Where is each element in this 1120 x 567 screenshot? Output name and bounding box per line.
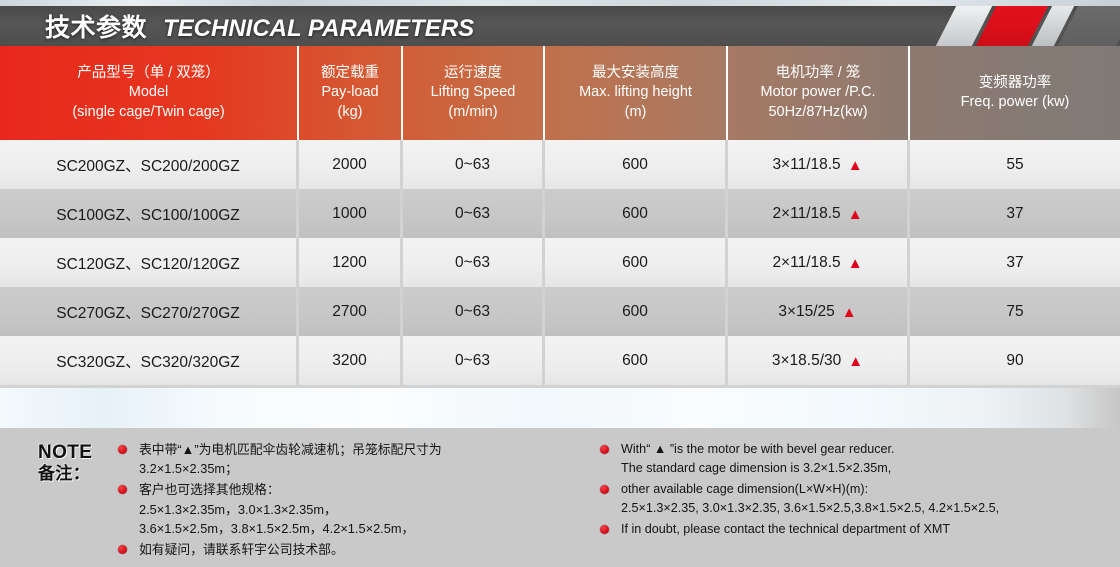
triangle-marker-icon: ▲	[848, 354, 863, 369]
column-header-speed-cn: 运行速度	[444, 64, 502, 83]
note-line: 3.2×1.5×2.35m；	[139, 459, 442, 478]
triangle-marker-icon: ▲	[848, 158, 863, 173]
cell-payload: 1000	[299, 189, 403, 238]
column-header-model-en: Model	[129, 83, 169, 102]
cell-model: SC120GZ、SC120/120GZ	[0, 238, 299, 287]
note-label: NOTE 备注：	[0, 428, 118, 567]
column-header-speed-en: Lifting Speed	[431, 83, 516, 102]
cell-model: SC200GZ、SC200/200GZ	[0, 140, 299, 189]
specifications-table: 产品型号（单 / 双笼） Model (single cage/Twin cag…	[0, 46, 1120, 385]
note-item: 如有疑问，请联系轩宇公司技术部。	[118, 540, 570, 559]
column-header-freq-power: 变频器功率 Freq. power (kw)	[910, 46, 1120, 140]
column-header-model-unit: (single cage/Twin cage)	[72, 103, 224, 122]
cell-height: 600	[545, 189, 728, 238]
page-title-en: TECHNICAL PARAMETERS	[163, 15, 474, 42]
cell-speed: 0~63	[403, 336, 545, 385]
column-header-height-en: Max. lifting height	[579, 83, 692, 102]
note-line: other available cage dimension(L×W×H)(m)…	[621, 480, 999, 499]
triangle-marker-icon: ▲	[848, 207, 863, 222]
cell-model: SC320GZ、SC320/320GZ	[0, 336, 299, 385]
note-column-english: With“ ▲ ”is the motor be with bevel gear…	[570, 428, 1120, 567]
note-panel: NOTE 备注： 表中带“▲”为电机匹配伞齿轮减速机；吊笼标配尺寸为 3.2×1…	[0, 428, 1120, 567]
cell-freq-power: 90	[910, 336, 1120, 385]
note-item-text: With“ ▲ ”is the motor be with bevel gear…	[621, 440, 895, 478]
cell-model: SC270GZ、SC270/270GZ	[0, 287, 299, 336]
column-header-payload-en: Pay-load	[321, 83, 378, 102]
column-header-speed-unit: (m/min)	[448, 103, 497, 122]
bullet-icon	[118, 545, 127, 554]
bullet-icon	[118, 485, 127, 494]
note-line: 表中带“▲”为电机匹配伞齿轮减速机；吊笼标配尺寸为	[139, 440, 442, 459]
cell-height: 600	[545, 238, 728, 287]
note-item: 客户也可选择其他规格： 2.5×1.3×2.35m，3.0×1.3×2.35m，…	[118, 480, 570, 538]
note-item: other available cage dimension(L×W×H)(m)…	[600, 480, 1120, 518]
note-line: 2.5×1.3×2.35, 3.0×1.3×2.35, 3.6×1.5×2.5,…	[621, 499, 999, 518]
note-item-text: If in doubt, please contact the technica…	[621, 520, 950, 539]
table-row: SC100GZ、SC100/100GZ 1000 0~63 600 2×11/1…	[0, 189, 1120, 238]
page-title-cn: 技术参数	[45, 14, 147, 42]
table-row: SC120GZ、SC120/120GZ 1200 0~63 600 2×11/1…	[0, 238, 1120, 287]
note-item-text: 如有疑问，请联系轩宇公司技术部。	[139, 540, 344, 559]
cell-speed: 0~63	[403, 189, 545, 238]
note-column-chinese: 表中带“▲”为电机匹配伞齿轮减速机；吊笼标配尺寸为 3.2×1.5×2.35m；…	[118, 428, 570, 567]
table-row: SC200GZ、SC200/200GZ 2000 0~63 600 3×11/1…	[0, 140, 1120, 189]
cell-payload: 2000	[299, 140, 403, 189]
cell-motor-value: 2×11/18.5	[772, 205, 840, 223]
cell-freq-power: 75	[910, 287, 1120, 336]
note-line: If in doubt, please contact the technica…	[621, 520, 950, 539]
cell-motor-value: 3×11/18.5	[772, 156, 840, 174]
column-header-payload-unit: (kg)	[338, 103, 363, 122]
column-header-freq-en: Freq. power (kw)	[961, 93, 1070, 112]
cell-height: 600	[545, 287, 728, 336]
column-header-height-unit: (m)	[625, 103, 647, 122]
note-line: 3.6×1.5×2.5m，3.8×1.5×2.5m，4.2×1.5×2.5m，	[139, 519, 414, 538]
cell-payload: 1200	[299, 238, 403, 287]
bullet-icon	[600, 485, 609, 494]
bullet-icon	[118, 445, 127, 454]
cell-height: 600	[545, 140, 728, 189]
note-line: With“ ▲ ”is the motor be with bevel gear…	[621, 440, 895, 459]
note-item: If in doubt, please contact the technica…	[600, 520, 1120, 539]
technical-parameters-page: 技术参数TECHNICAL PARAMETERS 产品型号（单 / 双笼） Mo…	[0, 0, 1120, 567]
table-row: SC270GZ、SC270/270GZ 2700 0~63 600 3×15/2…	[0, 287, 1120, 336]
note-item: With“ ▲ ”is the motor be with bevel gear…	[600, 440, 1120, 478]
column-header-model-cn: 产品型号（单 / 双笼）	[77, 64, 220, 83]
cell-freq-power: 55	[910, 140, 1120, 189]
note-line: The standard cage dimension is 3.2×1.5×2…	[621, 459, 895, 478]
column-header-speed: 运行速度 Lifting Speed (m/min)	[403, 46, 545, 140]
column-header-motor-power: 电机功率 / 笼 Motor power /P.C. 50Hz/87Hz(kw)	[728, 46, 910, 140]
cell-payload: 3200	[299, 336, 403, 385]
table-row: SC320GZ、SC320/320GZ 3200 0~63 600 3×18.5…	[0, 336, 1120, 385]
cell-model: SC100GZ、SC100/100GZ	[0, 189, 299, 238]
column-header-height-cn: 最大安装高度	[592, 64, 679, 83]
column-header-model: 产品型号（单 / 双笼） Model (single cage/Twin cag…	[0, 46, 299, 140]
note-line: 客户也可选择其他规格：	[139, 480, 414, 499]
column-header-motor-unit: 50Hz/87Hz(kw)	[768, 103, 867, 122]
cell-motor-power: 3×18.5/30 ▲	[728, 336, 910, 385]
cell-motor-power: 3×11/18.5 ▲	[728, 140, 910, 189]
cell-motor-value: 3×18.5/30	[772, 352, 841, 370]
note-item-text: 客户也可选择其他规格： 2.5×1.3×2.35m，3.0×1.3×2.35m，…	[139, 480, 414, 538]
triangle-marker-icon: ▲	[842, 305, 857, 320]
cell-motor-value: 2×11/18.5	[772, 254, 840, 272]
cell-height: 600	[545, 336, 728, 385]
bullet-icon	[600, 525, 609, 534]
table-header-row: 产品型号（单 / 双笼） Model (single cage/Twin cag…	[0, 46, 1120, 140]
note-item-text: other available cage dimension(L×W×H)(m)…	[621, 480, 999, 518]
page-banner: 技术参数TECHNICAL PARAMETERS	[0, 6, 1120, 46]
light-separator-band	[0, 388, 1120, 428]
note-label-en: NOTE	[38, 442, 118, 464]
note-label-cn: 备注：	[38, 464, 118, 484]
page-title: 技术参数TECHNICAL PARAMETERS	[45, 8, 474, 44]
note-line: 2.5×1.3×2.35m，3.0×1.3×2.35m，	[139, 500, 414, 519]
column-header-freq-cn: 变频器功率	[979, 74, 1052, 93]
note-item: 表中带“▲”为电机匹配伞齿轮减速机；吊笼标配尺寸为 3.2×1.5×2.35m；	[118, 440, 570, 478]
cell-motor-power: 2×11/18.5 ▲	[728, 238, 910, 287]
column-header-motor-cn: 电机功率 / 笼	[776, 64, 861, 83]
bullet-icon	[600, 445, 609, 454]
column-header-payload-cn: 额定载重	[321, 64, 379, 83]
cell-motor-value: 3×15/25	[778, 303, 834, 321]
column-header-height: 最大安装高度 Max. lifting height (m)	[545, 46, 728, 140]
column-header-payload: 额定载重 Pay-load (kg)	[299, 46, 403, 140]
cell-speed: 0~63	[403, 140, 545, 189]
cell-speed: 0~63	[403, 238, 545, 287]
cell-payload: 2700	[299, 287, 403, 336]
note-line: 如有疑问，请联系轩宇公司技术部。	[139, 540, 344, 559]
triangle-marker-icon: ▲	[848, 256, 863, 271]
banner-stripes-decoration	[930, 6, 1120, 46]
note-item-text: 表中带“▲”为电机匹配伞齿轮减速机；吊笼标配尺寸为 3.2×1.5×2.35m；	[139, 440, 442, 478]
cell-motor-power: 2×11/18.5 ▲	[728, 189, 910, 238]
column-header-motor-en: Motor power /P.C.	[761, 83, 876, 102]
cell-speed: 0~63	[403, 287, 545, 336]
cell-motor-power: 3×15/25 ▲	[728, 287, 910, 336]
cell-freq-power: 37	[910, 238, 1120, 287]
cell-freq-power: 37	[910, 189, 1120, 238]
